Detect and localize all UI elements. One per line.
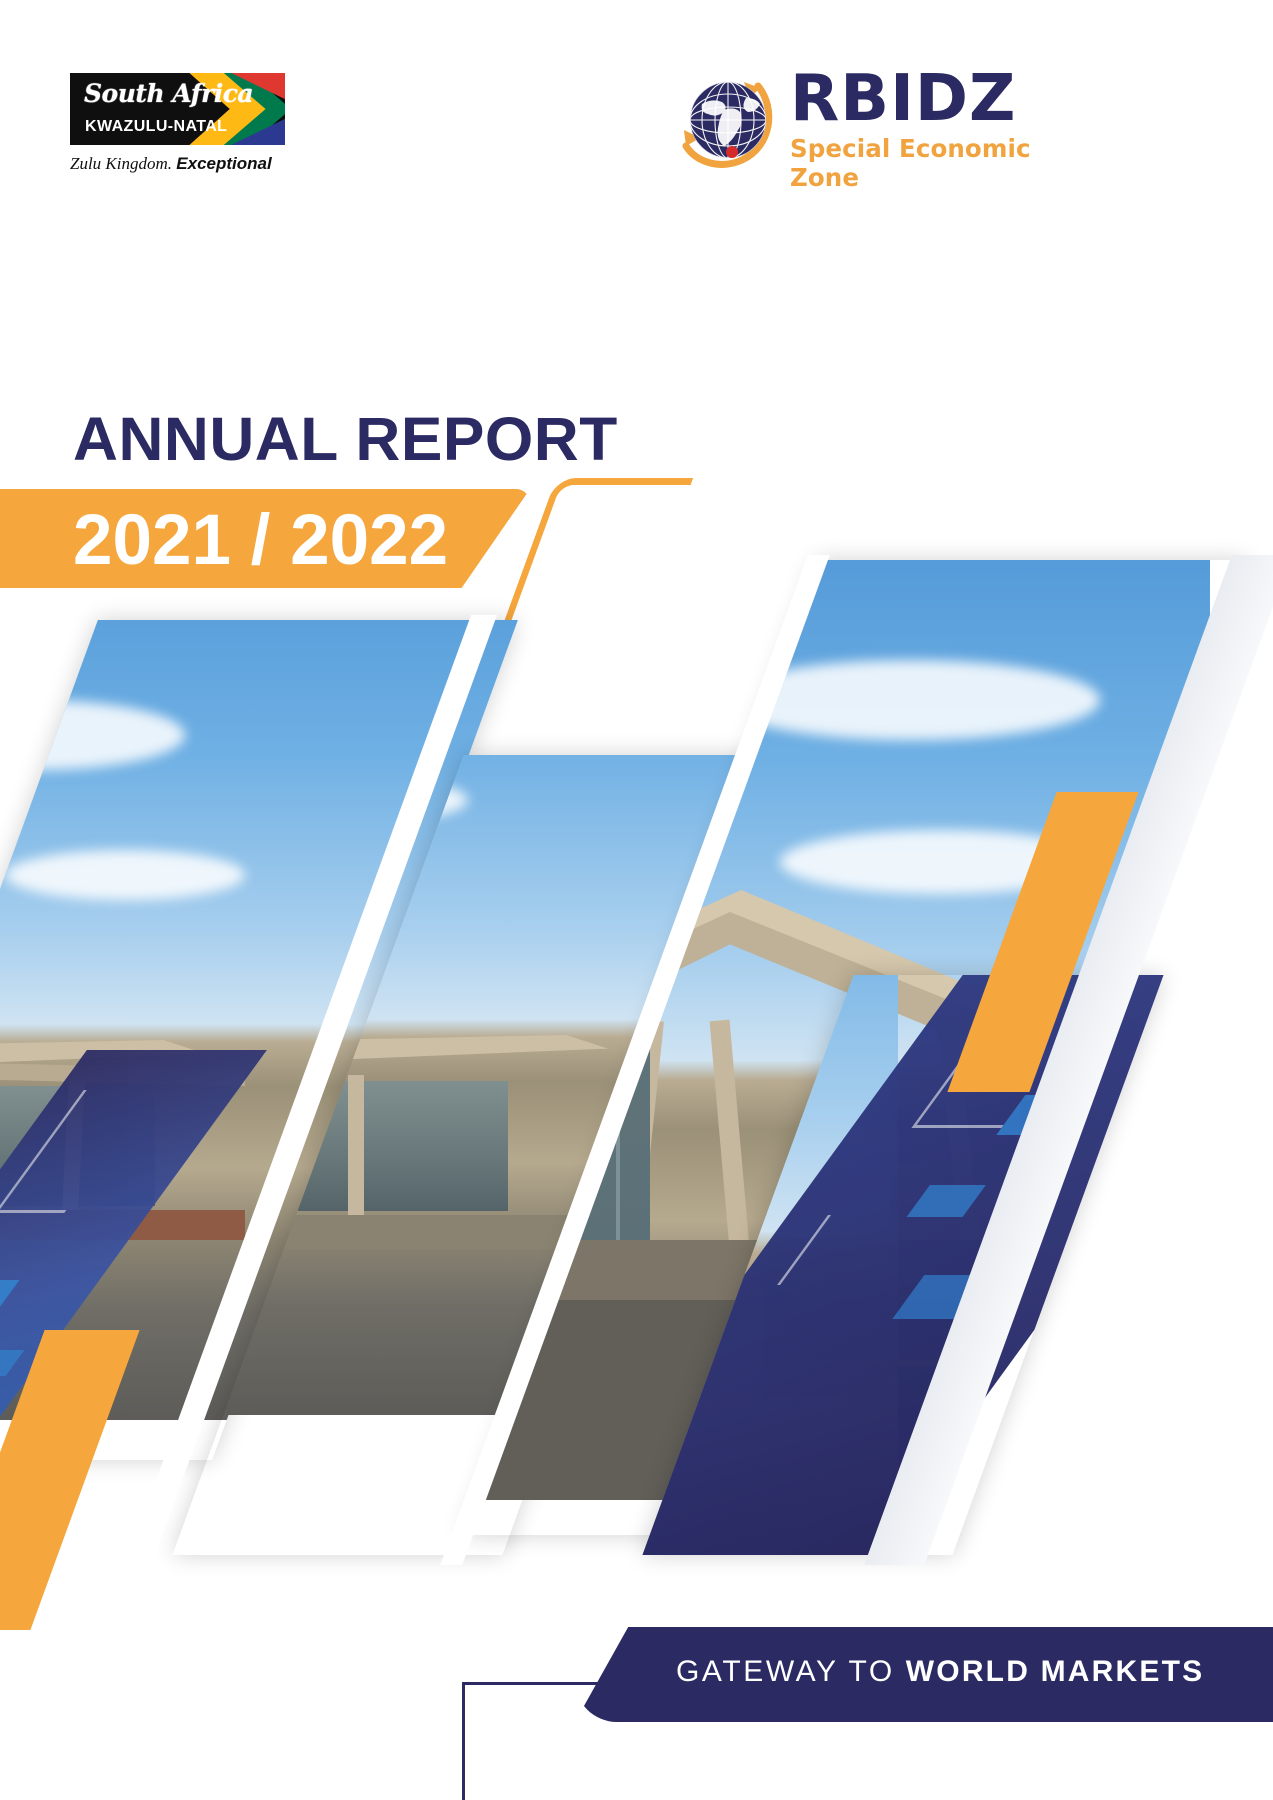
- rbidz-subtitle: Special Economic Zone: [790, 134, 1052, 192]
- page-title: ANNUAL REPORT: [73, 404, 618, 474]
- footer-text-light: GATEWAY TO: [676, 1655, 895, 1688]
- sa-flag-emblem: South Africa KWAZULU-NATAL: [70, 73, 285, 145]
- sa-tagline: Zulu Kingdom. Exceptional: [70, 154, 285, 174]
- report-cover-page: South Africa KWAZULU-NATAL Zulu Kingdom.…: [0, 0, 1273, 1800]
- sa-tagline-bold: Exceptional: [176, 154, 271, 173]
- rbidz-wordmark: RBIDZ Special Economic Zone: [790, 68, 1052, 192]
- red-location-marker-icon: [726, 146, 738, 158]
- banner-connector-line-vertical: [462, 1682, 465, 1800]
- footer-text-bold: WORLD MARKETS: [906, 1655, 1205, 1688]
- south-africa-kzn-logo: South Africa KWAZULU-NATAL Zulu Kingdom.…: [70, 73, 285, 174]
- cover-photo-collage: [0, 555, 1273, 1575]
- rbidz-acronym: RBIDZ: [790, 68, 1052, 130]
- footer-banner-text: GATEWAY TO WORLD MARKETS: [676, 1655, 1204, 1689]
- globe-icon: [672, 64, 784, 176]
- rbidz-logo: RBIDZ Special Economic Zone: [672, 58, 1052, 178]
- sa-province-name: KWAZULU-NATAL: [85, 118, 227, 136]
- blue-overlay-main: [1160, 978, 1248, 1535]
- sa-brand-name: South Africa: [84, 79, 253, 108]
- sa-tagline-light: Zulu Kingdom.: [70, 154, 172, 173]
